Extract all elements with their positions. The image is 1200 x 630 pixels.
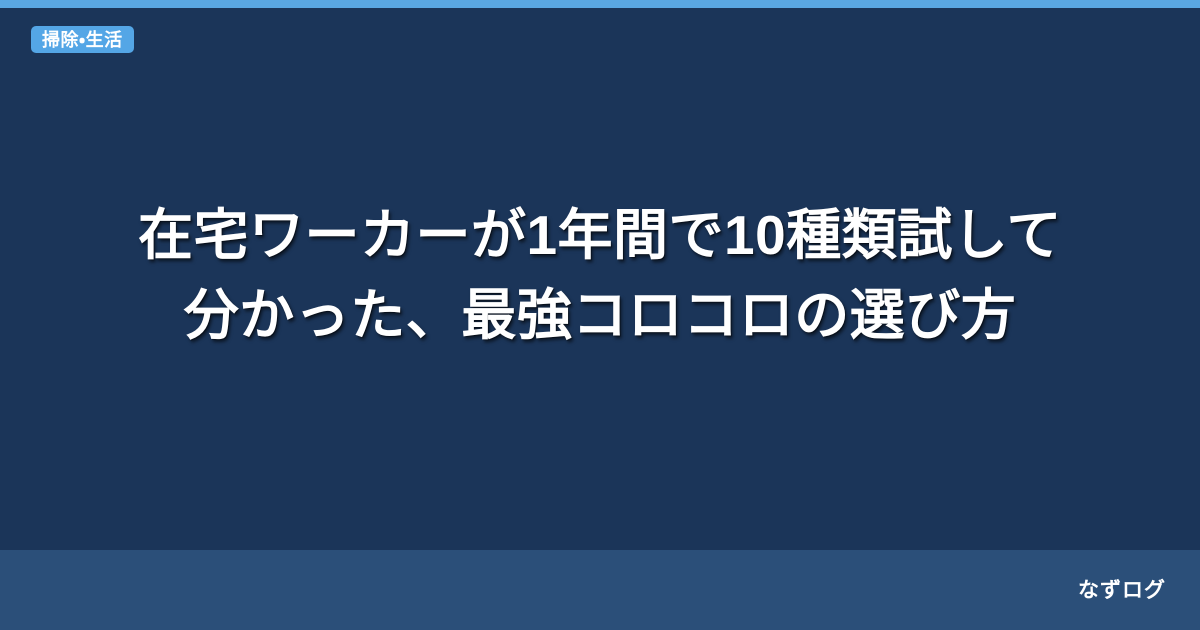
page-title-line-2: 分かった、最強コロコロの選び方	[184, 275, 1017, 355]
ogp-card: 掃除・生活 在宅ワーカーが1年間で10種類試して 分かった、最強コロコロの選び方…	[0, 0, 1200, 630]
title-block: 在宅ワーカーが1年間で10種類試して 分かった、最強コロコロの選び方	[0, 0, 1200, 550]
footer-band: なずログ	[0, 550, 1200, 630]
site-name: なずログ	[1078, 580, 1166, 601]
page-title-line-1: 在宅ワーカーが1年間で10種類試して	[138, 195, 1062, 275]
